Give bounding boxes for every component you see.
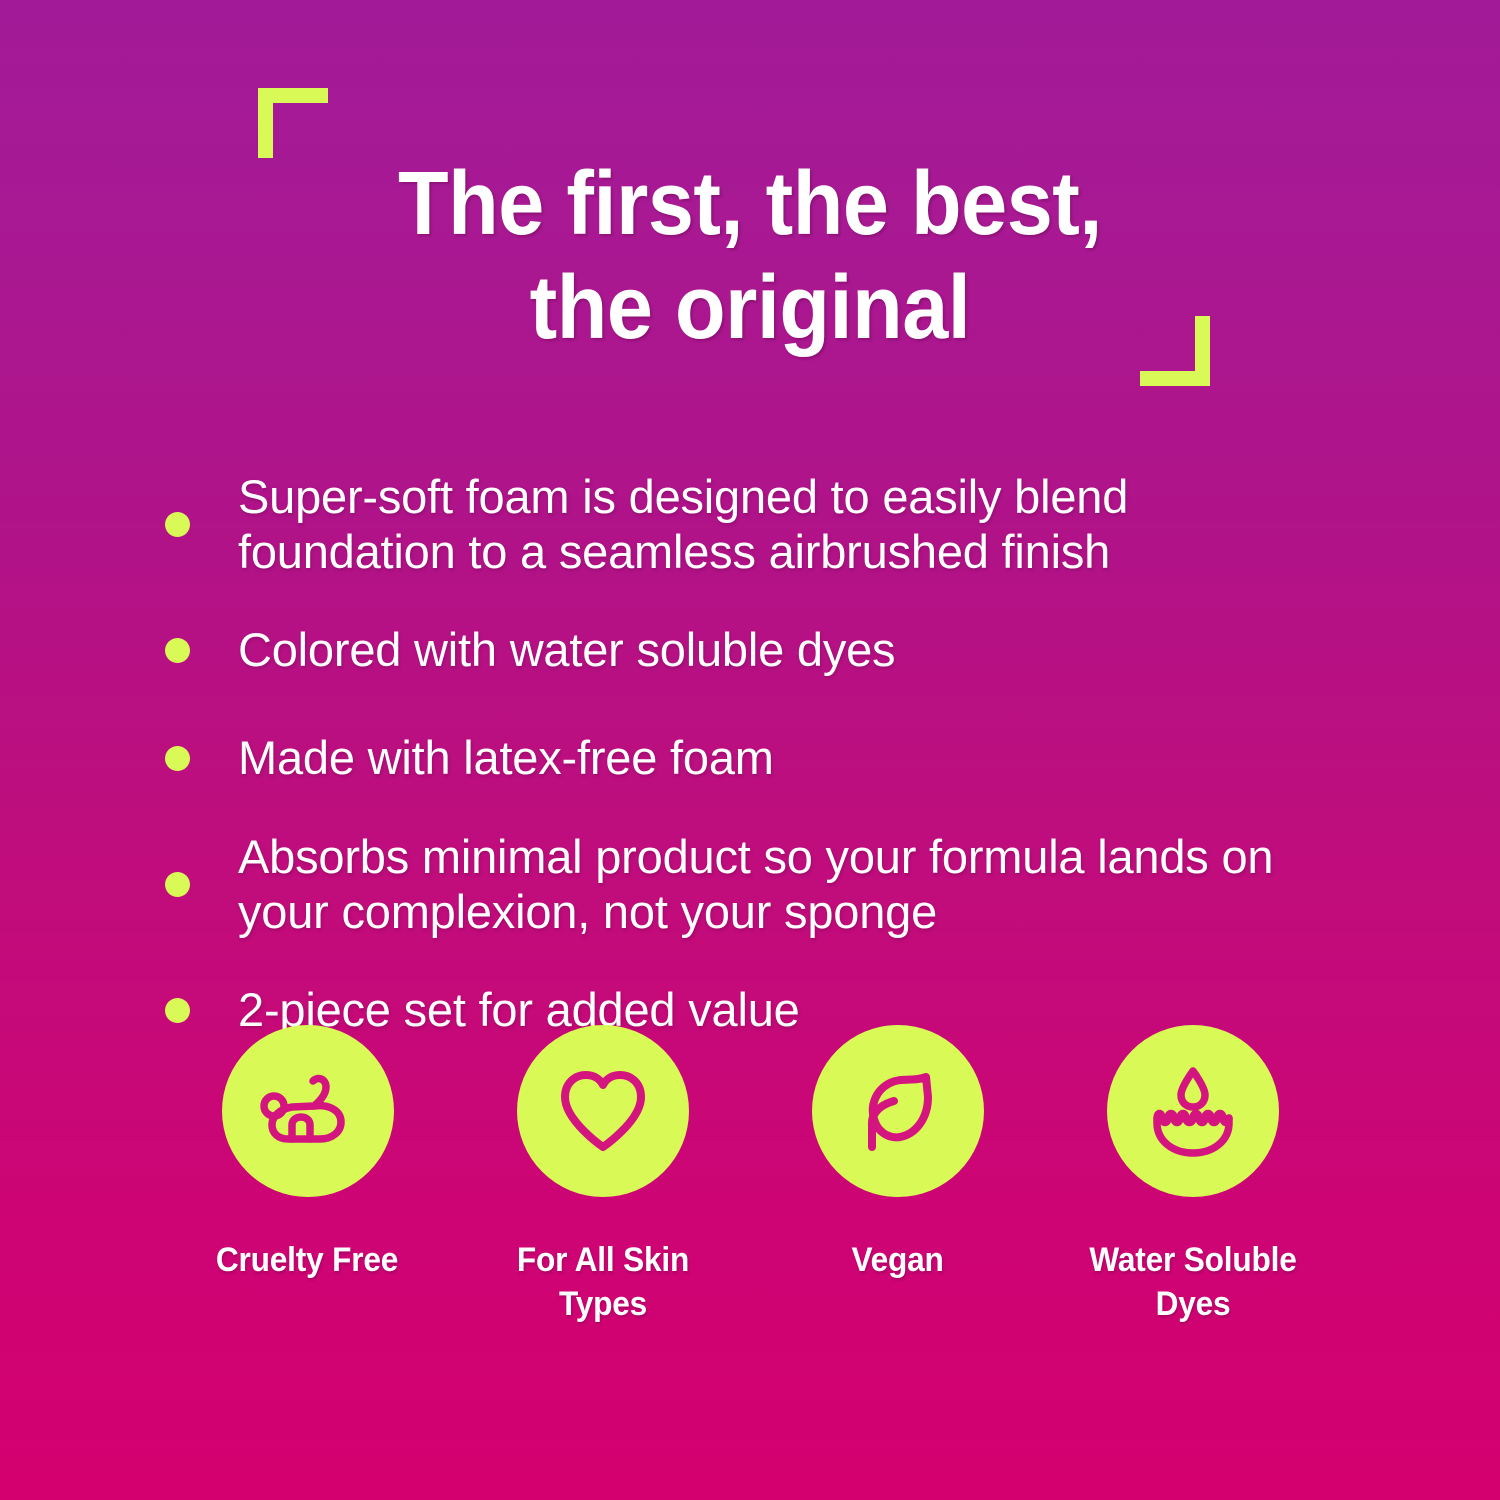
corner-bracket-top-left-icon bbox=[258, 88, 328, 158]
bullet-dot-icon bbox=[165, 746, 190, 771]
bracket-top-left-vertical bbox=[258, 88, 273, 158]
badge-for-all-skin-types: For All Skin Types bbox=[455, 1025, 750, 1326]
heart-icon bbox=[555, 1063, 651, 1159]
headline-line-1: The first, the best, bbox=[290, 152, 1210, 256]
badge-water-soluble-dyes: Water Soluble Dyes bbox=[1045, 1025, 1340, 1326]
badge-circle bbox=[222, 1025, 394, 1197]
feature-bullet-list: Super-soft foam is designed to easily bl… bbox=[165, 470, 1345, 1048]
page-title: The first, the best, the original bbox=[290, 152, 1210, 361]
bullet-dot-icon bbox=[165, 998, 190, 1023]
badge-label: For All Skin Types bbox=[486, 1239, 719, 1326]
rabbit-icon bbox=[256, 1059, 360, 1163]
list-item: Super-soft foam is designed to easily bl… bbox=[165, 470, 1345, 580]
badge-vegan: Vegan bbox=[750, 1025, 1045, 1326]
leaf-icon bbox=[850, 1063, 946, 1159]
bullet-text: Absorbs minimal product so your formula … bbox=[238, 830, 1345, 940]
badge-circle bbox=[1107, 1025, 1279, 1197]
badge-cruelty-free: Cruelty Free bbox=[160, 1025, 455, 1326]
headline-line-2: the original bbox=[290, 256, 1210, 360]
list-item: Absorbs minimal product so your formula … bbox=[165, 830, 1345, 940]
badge-circle bbox=[812, 1025, 984, 1197]
badge-label: Cruelty Free bbox=[216, 1239, 398, 1283]
bullet-text: Colored with water soluble dyes bbox=[238, 623, 895, 678]
bullet-dot-icon bbox=[165, 872, 190, 897]
product-feature-poster: The first, the best, the original Super-… bbox=[0, 0, 1500, 1500]
certification-badge-row: Cruelty Free For All Skin Types Vegan bbox=[160, 1025, 1340, 1326]
water-drop-icon bbox=[1143, 1061, 1243, 1161]
list-item: Made with latex-free foam bbox=[165, 722, 1345, 796]
bullet-text: Made with latex-free foam bbox=[238, 731, 774, 786]
badge-label: Vegan bbox=[851, 1239, 943, 1283]
bullet-dot-icon bbox=[165, 512, 190, 537]
bullet-dot-icon bbox=[165, 638, 190, 663]
badge-label: Water Soluble Dyes bbox=[1076, 1239, 1309, 1326]
badge-circle bbox=[517, 1025, 689, 1197]
bullet-text: Super-soft foam is designed to easily bl… bbox=[238, 470, 1345, 580]
list-item: Colored with water soluble dyes bbox=[165, 614, 1345, 688]
